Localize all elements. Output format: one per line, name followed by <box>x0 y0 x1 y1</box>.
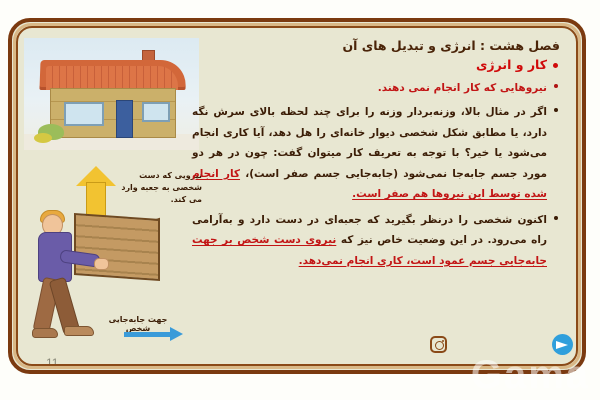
bullet-3-text: اکنون شخصی را درنظر بگیرید که جعبه‌ای در… <box>192 210 547 271</box>
bullet-1-text: نیروهایی که کار انجام نمی دهند. <box>192 79 547 98</box>
illustration-column: نیرویی که دست شخصی به جعبه وارد می کند. … <box>20 30 206 364</box>
instagram-icon[interactable] <box>430 336 447 353</box>
force-caption: نیرویی که دست شخصی به جعبه وارد می کند. <box>112 170 202 206</box>
subtitle-row: کار و انرژی <box>192 57 558 73</box>
house-window-left <box>64 102 104 126</box>
person-hand <box>94 258 109 270</box>
house-door <box>116 100 133 138</box>
bullet-dot-icon <box>554 108 558 112</box>
displacement-caption: جهت جابه‌جایی شخص <box>98 315 178 333</box>
slide-root: نیرویی که دست شخصی به جعبه وارد می کند. … <box>0 0 600 400</box>
house-window-right <box>142 102 170 122</box>
wooden-crate <box>74 213 160 281</box>
bullet-item-3: اکنون شخصی را درنظر بگیرید که جعبه‌ای در… <box>192 210 558 271</box>
bullet-dot-icon <box>554 84 558 88</box>
text-column: فصل هشت : انرژی و تبدیل های آن کار و انر… <box>192 32 572 362</box>
bullet-dot-icon <box>554 216 558 220</box>
slide-content-area: نیرویی که دست شخصی به جعبه وارد می کند. … <box>16 26 578 366</box>
house-roof-tiles <box>46 66 178 90</box>
bullet-item-2: اگر در مثال بالا، وزنه‌بردار وزنه را برا… <box>192 102 558 204</box>
watermark: Gama <box>471 353 590 398</box>
telegram-icon[interactable] <box>552 334 573 355</box>
bullet-item-1: نیروهایی که کار انجام نمی دهند. <box>192 79 558 98</box>
section-subtitle: کار و انرژی <box>476 57 547 73</box>
chapter-title: فصل هشت : انرژی و تبدیل های آن <box>192 38 560 54</box>
bullet-2-text: اگر در مثال بالا، وزنه‌بردار وزنه را برا… <box>192 102 547 204</box>
house-flowers <box>34 133 52 143</box>
bullet-dot-icon <box>553 63 558 68</box>
house-illustration <box>24 38 199 150</box>
bullet-2-plain: اگر در مثال بالا، وزنه‌بردار وزنه را برا… <box>192 106 547 179</box>
